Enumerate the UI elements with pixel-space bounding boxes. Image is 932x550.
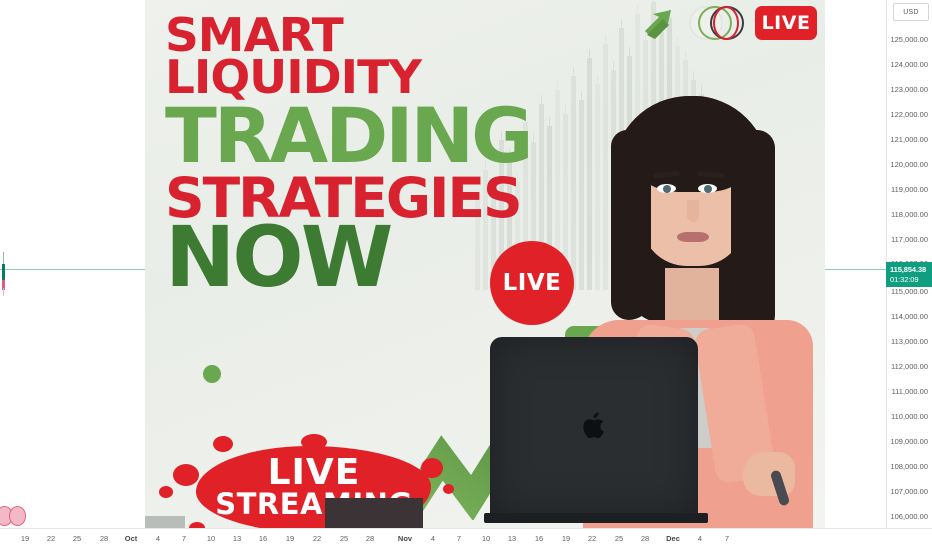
live-chip-badge: LIVE (755, 6, 817, 40)
price-tick-label: 110,000.00 (891, 413, 928, 421)
time-tick-label: 19 (286, 535, 294, 543)
candlestick (0, 252, 7, 294)
currency-label: USD (903, 9, 918, 16)
green-arrow-logo-icon (639, 5, 679, 41)
price-tick-label: 114,000.00 (891, 313, 928, 321)
time-tick-label: 16 (259, 535, 267, 543)
time-tick-label: 25 (340, 535, 348, 543)
price-tick-label: 106,000.00 (890, 513, 928, 521)
currency-selector[interactable]: USD (893, 3, 929, 21)
time-scale[interactable]: 19222528Oct4710131619222528Nov4710131619… (0, 528, 932, 550)
live-circle-label: LIVE (503, 270, 562, 296)
price-tick-label: 121,000.00 (890, 136, 928, 144)
headline-line-2: TRADING (165, 103, 585, 170)
time-tick-label: 10 (207, 535, 215, 543)
time-tick-label: 13 (233, 535, 241, 543)
apple-logo-icon (582, 411, 608, 441)
time-tick-label: 28 (100, 535, 108, 543)
time-tick-label: Nov (398, 535, 412, 543)
time-tick-label: 4 (698, 535, 702, 543)
time-tick-label: 7 (182, 535, 186, 543)
price-tick-label: 111,000.00 (892, 388, 928, 396)
time-tick-label: 19 (21, 535, 29, 543)
time-tick-label: 7 (725, 535, 729, 543)
banner-bottom-strip (145, 516, 185, 528)
price-tick-label: 119,000.00 (891, 186, 928, 194)
price-tick-label: 112,000.00 (891, 363, 928, 371)
current-price-value: 115,854.38 (890, 265, 931, 275)
live-stream-banner[interactable]: SMART LIQUIDITY TRADING STRATEGIES NOW L… (145, 0, 825, 528)
bar-countdown-timer: 01:32:09 (890, 275, 931, 285)
time-tick-label: Oct (125, 535, 138, 543)
price-tick-label: 113,000.00 (891, 338, 928, 346)
price-tick-label: 108,000.00 (890, 463, 928, 471)
time-tick-label: 4 (431, 535, 435, 543)
time-tick-label: 28 (641, 535, 649, 543)
price-tick-label: 122,000.00 (890, 111, 928, 119)
current-price-badge[interactable]: 115,854.38 01:32:09 (887, 263, 932, 286)
time-tick-label: 25 (615, 535, 623, 543)
price-tick-label: 120,000.00 (890, 161, 928, 169)
time-tick-label: 19 (562, 535, 570, 543)
green-dot-decoration (203, 365, 221, 383)
time-tick-label: 7 (457, 535, 461, 543)
chart-corner-badges[interactable] (0, 506, 30, 528)
trading-chart-app: SMART LIQUIDITY TRADING STRATEGIES NOW L… (0, 0, 932, 550)
laptop-device (490, 337, 708, 528)
overlapping-rings-logo-icon (689, 4, 745, 42)
time-tick-label: Dec (666, 535, 680, 543)
desk-surface (325, 498, 423, 528)
time-tick-label: 22 (588, 535, 596, 543)
time-tick-label: 22 (313, 535, 321, 543)
stream-line-1: LIVE (199, 456, 429, 490)
paint-splatter-decoration: LIVE STREAMING (151, 434, 481, 528)
price-tick-label: 124,000.00 (890, 61, 928, 69)
price-tick-label: 109,000.00 (890, 438, 928, 446)
time-tick-label: 13 (508, 535, 516, 543)
price-tick-label: 123,000.00 (890, 86, 928, 94)
time-tick-label: 10 (482, 535, 490, 543)
time-tick-label: 4 (156, 535, 160, 543)
live-chip-label: LIVE (762, 12, 811, 34)
price-scale[interactable]: USD 125,000.00124,000.00123,000.00122,00… (886, 0, 932, 528)
live-circle-badge: LIVE (490, 241, 574, 325)
headline-line-1: SMART LIQUIDITY (165, 14, 593, 99)
time-tick-label: 28 (366, 535, 374, 543)
time-tick-label: 25 (73, 535, 81, 543)
price-tick-label: 118,000.00 (891, 211, 928, 219)
brand-logo-row: LIVE (639, 3, 817, 43)
time-tick-label: 16 (535, 535, 543, 543)
price-tick-label: 117,000.00 (891, 236, 928, 244)
price-tick-label: 107,000.00 (890, 488, 928, 496)
price-tick-label: 125,000.00 (890, 36, 928, 44)
time-tick-label: 22 (47, 535, 55, 543)
corner-badge-2[interactable] (9, 506, 26, 526)
price-tick-label: 115,000.00 (891, 288, 928, 296)
